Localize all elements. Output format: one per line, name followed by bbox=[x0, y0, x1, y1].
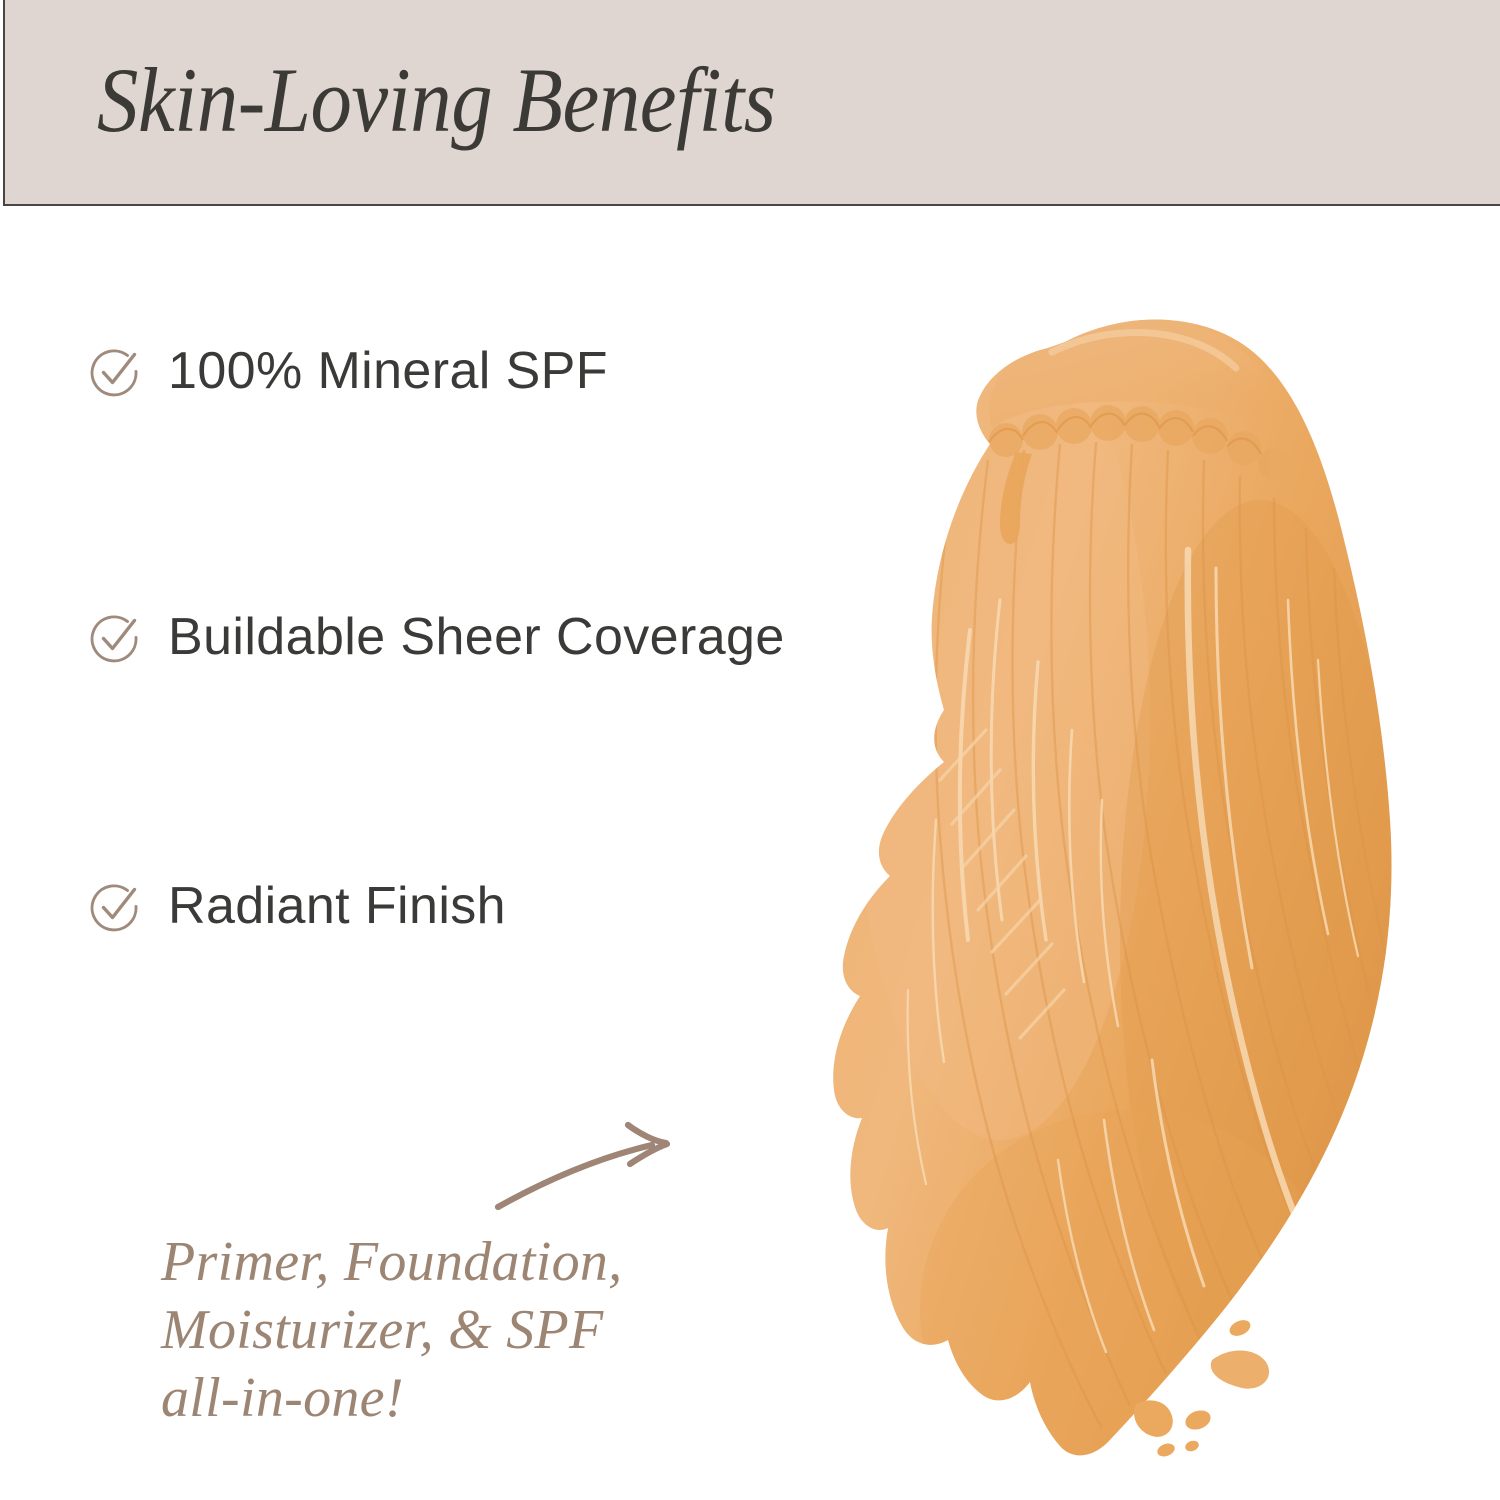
check-circle-icon bbox=[86, 342, 144, 400]
caption-line-3: all-in-one! bbox=[161, 1364, 622, 1432]
benefit-label: Radiant Finish bbox=[168, 877, 506, 935]
caption-line-1: Primer, Foundation, bbox=[161, 1228, 622, 1296]
benefit-label: Buildable Sheer Coverage bbox=[168, 608, 785, 666]
caption-line-2: Moisturizer, & SPF bbox=[161, 1296, 622, 1364]
benefit-item-mineral-spf: 100% Mineral SPF bbox=[86, 342, 608, 400]
benefit-item-radiant-finish: Radiant Finish bbox=[86, 877, 506, 935]
benefit-item-buildable-coverage: Buildable Sheer Coverage bbox=[86, 608, 785, 666]
product-benefits-graphic: Skin-Loving Benefits 100% Mineral SPF Bu… bbox=[0, 0, 1500, 1500]
curved-arrow-icon bbox=[470, 1110, 730, 1240]
callout-caption: Primer, Foundation, Moisturizer, & SPF a… bbox=[161, 1228, 622, 1432]
check-circle-icon bbox=[86, 608, 144, 666]
benefit-label: 100% Mineral SPF bbox=[168, 342, 608, 400]
check-circle-icon bbox=[86, 877, 144, 935]
